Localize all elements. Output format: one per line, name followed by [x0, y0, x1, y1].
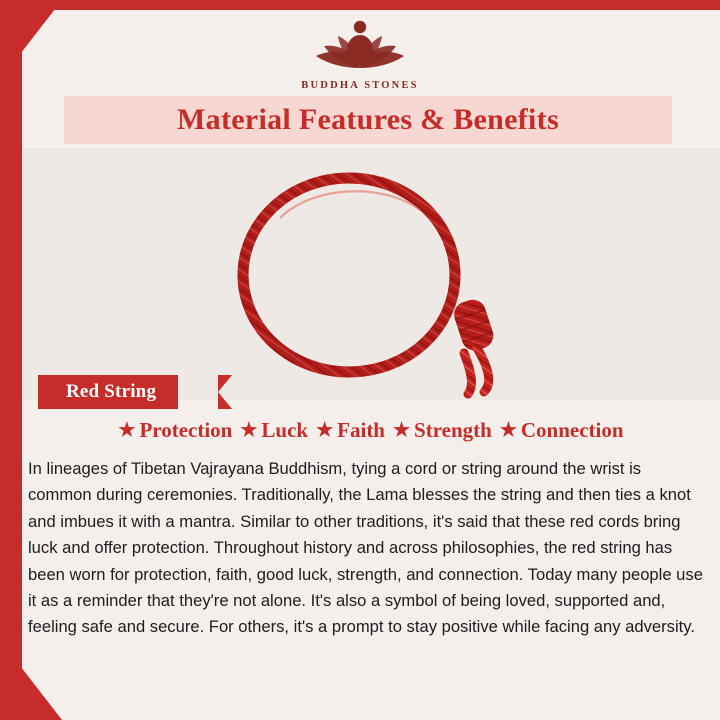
benefits-row: ★ Protection ★ Luck ★ Faith ★ Strength ★…: [22, 418, 720, 443]
benefit-item-connection: ★ Connection: [500, 418, 624, 443]
benefit-label: Connection: [521, 418, 624, 443]
description-text: In lineages of Tibetan Vajrayana Buddhis…: [28, 456, 704, 641]
star-icon: ★: [500, 419, 517, 442]
title-band: Material Features & Benefits: [64, 96, 672, 144]
page-title: Material Features & Benefits: [177, 103, 559, 137]
benefit-item-luck: ★ Luck: [240, 418, 308, 443]
star-icon: ★: [240, 419, 257, 442]
brand-name: BUDDHA STONES: [0, 80, 720, 91]
star-icon: ★: [393, 419, 410, 442]
top-red-strip: [22, 0, 720, 10]
product-image: [22, 148, 720, 400]
ribbon-tail: [218, 375, 232, 409]
benefit-label: Protection: [139, 418, 232, 443]
benefit-item-faith: ★ Faith: [316, 418, 385, 443]
star-icon: ★: [316, 419, 333, 442]
benefit-item-protection: ★ Protection: [118, 418, 232, 443]
benefit-item-strength: ★ Strength: [393, 418, 492, 443]
benefit-label: Luck: [261, 418, 308, 443]
brand-logo: BUDDHA STONES: [0, 14, 720, 91]
product-name-ribbon: Red String: [38, 375, 178, 409]
lotus-meditation-icon: [0, 14, 720, 76]
benefit-label: Faith: [337, 418, 385, 443]
left-red-bar: [0, 0, 22, 720]
star-icon: ★: [118, 419, 135, 442]
infographic-page: BUDDHA STONES Material Features & Benefi…: [0, 0, 720, 720]
product-name: Red String: [66, 381, 156, 403]
corner-wedge-bottom-left: [0, 640, 62, 720]
benefit-label: Strength: [414, 418, 492, 443]
